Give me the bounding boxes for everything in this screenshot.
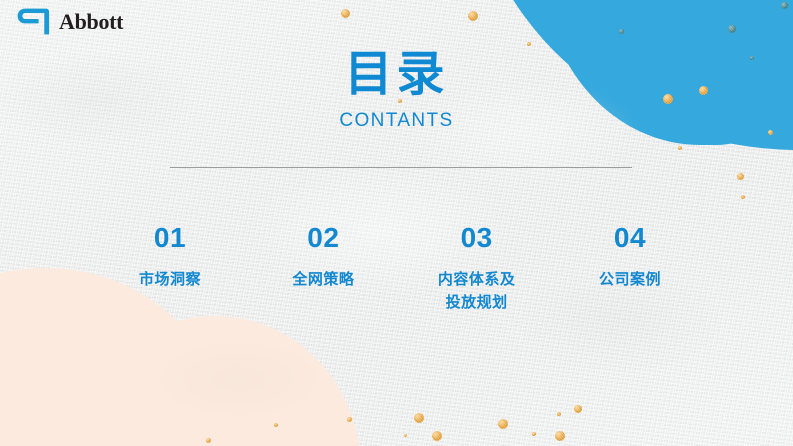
confetti-dot <box>555 431 565 441</box>
confetti-dot <box>527 42 531 46</box>
confetti-dot <box>206 438 211 443</box>
toc-number: 03 <box>417 222 537 254</box>
page-title: 目录 <box>0 48 793 102</box>
toc-item-03[interactable]: 03 内容体系及投放规划 <box>417 222 537 314</box>
title-block: 目录 CONTANTS <box>0 48 793 132</box>
toc-number: 02 <box>263 222 383 254</box>
confetti-dot <box>728 25 736 33</box>
toc-item-label: 市场洞察 <box>110 268 230 291</box>
confetti-dot <box>557 412 561 416</box>
confetti-dot <box>574 405 582 413</box>
toc-item-04[interactable]: 04 公司案例 <box>570 222 690 291</box>
toc-number: 04 <box>570 222 690 254</box>
confetti-dot <box>468 11 478 21</box>
confetti-dot <box>498 419 508 429</box>
confetti-dot <box>619 29 624 34</box>
table-of-contents: 01 市场洞察 02 全网策略 03 内容体系及投放规划 04 公司案例 <box>110 222 690 314</box>
confetti-dot <box>678 146 682 150</box>
abbott-wordmark: Abbott <box>59 11 123 33</box>
toc-item-02[interactable]: 02 全网策略 <box>263 222 383 291</box>
confetti-dot <box>532 432 536 436</box>
abbott-a-symbol-icon <box>16 7 51 36</box>
confetti-dot <box>781 2 788 9</box>
confetti-dot <box>432 431 442 441</box>
title-divider <box>170 167 632 168</box>
confetti-dot <box>274 423 278 427</box>
confetti-dot <box>414 413 424 423</box>
slide-canvas: Abbott 目录 CONTANTS 01 市场洞察 02 全网策略 03 内容… <box>0 0 793 446</box>
confetti-dot <box>347 417 352 422</box>
toc-number: 01 <box>110 222 230 254</box>
confetti-dot <box>737 173 744 180</box>
toc-item-01[interactable]: 01 市场洞察 <box>110 222 230 291</box>
confetti-dot <box>404 434 407 437</box>
toc-item-label: 全网策略 <box>263 268 383 291</box>
confetti-dot <box>341 9 350 18</box>
toc-item-label: 公司案例 <box>570 268 690 291</box>
page-subtitle: CONTANTS <box>0 110 793 132</box>
confetti-dot <box>741 195 745 199</box>
abbott-logo: Abbott <box>16 7 123 36</box>
toc-item-label: 内容体系及投放规划 <box>417 268 537 314</box>
